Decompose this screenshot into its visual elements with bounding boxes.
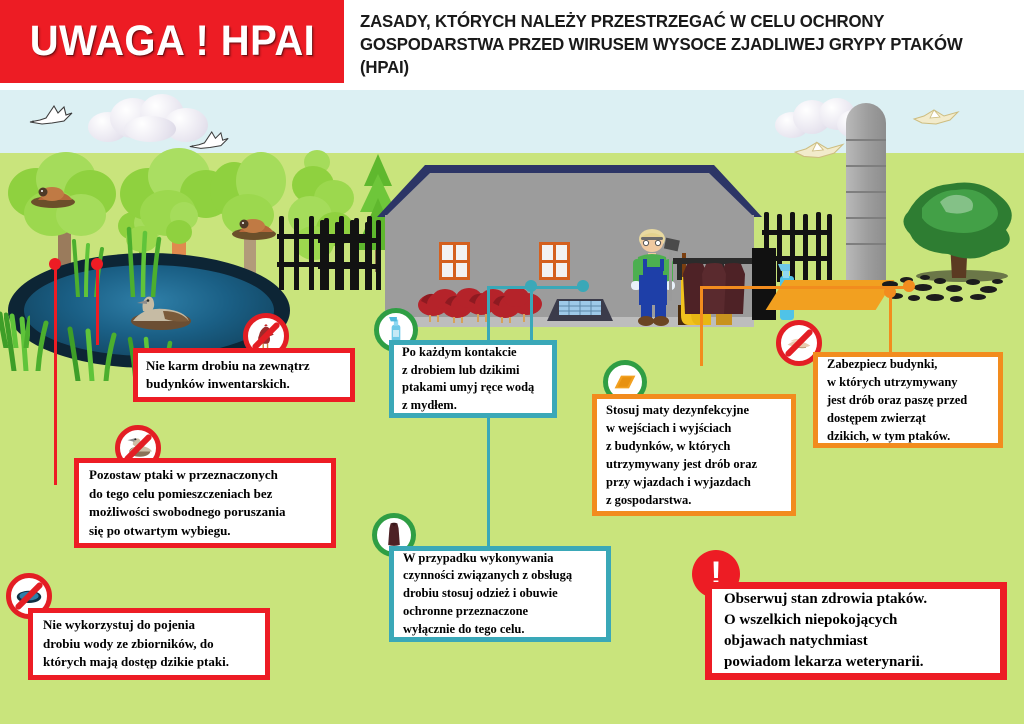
rule-box-protective-clothing: W przypadku wykonywania czynności związa…	[389, 546, 611, 642]
reed-icon	[123, 225, 163, 297]
rule-box-no-surface-water: Nie wykorzystuj do pojenia drobiu wody z…	[28, 608, 270, 680]
rule-box-keep-birds-indoors: Pozostaw ptaki w przeznaczonych do tego …	[74, 458, 336, 548]
fence-icon	[318, 218, 380, 290]
rule-text-secure-buildings: Zabezpiecz budynki, w których utrzymywan…	[818, 355, 976, 445]
header-warning-badge: UWAGA ! HPAI	[0, 0, 344, 83]
rule-text-protective-clothing: W przypadku wykonywania czynności związa…	[394, 550, 581, 639]
rule-text-wash-hands: Po każdym kontakcie z drobiem lub dzikim…	[394, 344, 542, 414]
barn-window	[439, 242, 470, 280]
rule-text-no-surface-water: Nie wykorzystuj do pojenia drobiu wody z…	[33, 616, 239, 672]
disinfection-mat	[547, 293, 613, 323]
wild-duck-icon	[123, 291, 197, 331]
rule-text-monitor-health: Obserwuj stan zdrowia ptaków. O wszelkic…	[712, 589, 939, 673]
wild-goose-icon	[28, 104, 74, 130]
poster-header: UWAGA ! HPAI ZASADY, KTÓRYCH NALEŻY PRZE…	[0, 0, 1024, 90]
reed-icon	[66, 315, 118, 381]
header-subtitle: ZASADY, KTÓRYCH NALEŻY PRZESTRZEGAĆ W CE…	[360, 10, 984, 79]
rule-text-no-outdoor-feeding: Nie karm drobiu na zewnątrz budynków inw…	[138, 357, 318, 393]
hpai-poster: UWAGA ! HPAI ZASADY, KTÓRYCH NALEŻY PRZE…	[0, 0, 1024, 724]
grass-tuft-icon	[0, 308, 30, 348]
outdoor-disinfection-mat	[766, 280, 895, 310]
tree-icon	[888, 156, 1024, 284]
header-badge-label: UWAGA ! HPAI	[29, 17, 314, 66]
rule-text-disinfection-mats: Stosuj maty dezynfekcyjne w wejściach i …	[597, 401, 766, 509]
rule-box-wash-hands: Po każdym kontakcie z drobiem lub dzikim…	[389, 340, 557, 418]
rule-box-secure-buildings: Zabezpiecz budynki, w których utrzymywan…	[813, 352, 1003, 448]
rule-box-disinfection-mats: Stosuj maty dezynfekcyjne w wejściach i …	[592, 394, 796, 516]
rule-box-monitor-health: Obserwuj stan zdrowia ptaków. O wszelkic…	[705, 582, 1007, 680]
rule-text-keep-birds-indoors: Pozostaw ptaki w przeznaczonych do tego …	[79, 466, 295, 540]
wild-bird-icon	[790, 138, 848, 164]
barn-gable	[385, 173, 754, 217]
rule-box-no-outdoor-feeding: Nie karm drobiu na zewnątrz budynków inw…	[133, 348, 355, 402]
barn-window	[539, 242, 570, 280]
wild-bird-icon	[910, 106, 962, 130]
gravel-patch	[880, 275, 1010, 305]
feed-silo	[846, 103, 886, 281]
